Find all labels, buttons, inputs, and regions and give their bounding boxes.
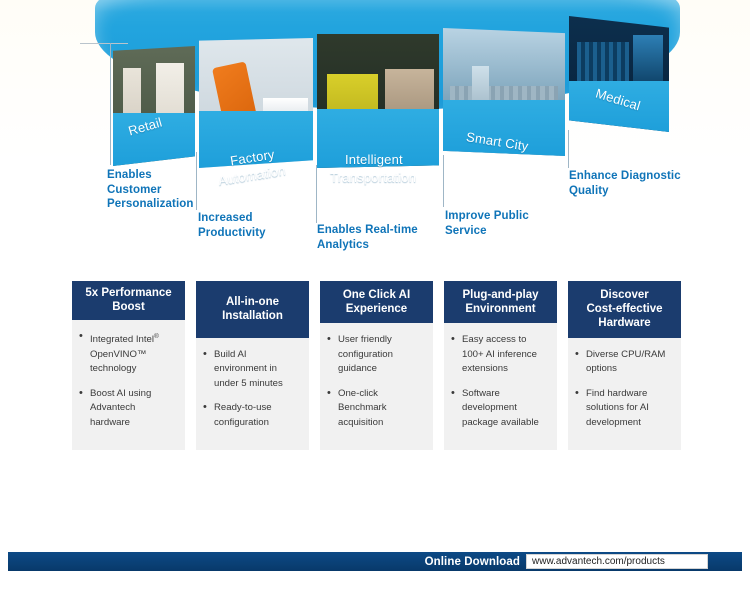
caption-medical-line2: Quality	[569, 184, 699, 199]
card-title-line2: Installation	[222, 309, 283, 323]
card-bullet-item: Boost AI using Advantech hardware	[79, 387, 177, 431]
card-header-installation: All-in-one Installation	[196, 281, 309, 338]
online-download-label: Online Download	[425, 556, 520, 568]
caption-factory: Increased Productivity	[198, 211, 298, 240]
industry-panel-retail[interactable]	[113, 46, 195, 166]
caption-smart-city-line1: Improve Public	[445, 209, 555, 224]
industry-panel-medical[interactable]	[569, 16, 669, 132]
download-url-text: www.advantech.com/products	[532, 556, 665, 567]
card-title-line1: 5x Performance	[85, 286, 171, 300]
caption-transportation-line1: Enables Real-time	[317, 223, 443, 238]
card-header-plug-and-play: Plug-and-play Environment	[444, 281, 557, 323]
card-title-line2: Boost	[85, 300, 171, 314]
card-body-plug-and-play: Easy access to 100+ AI inference extensi…	[444, 323, 557, 450]
caption-factory-line1: Increased	[198, 211, 298, 226]
card-header-cost-effective-hardware: Discover Cost-effective Hardware	[568, 281, 681, 338]
card-body-one-click-ai: User friendly configuration guidance One…	[320, 323, 433, 450]
card-bullet-list: User friendly configuration guidance One…	[327, 333, 425, 430]
card-title-line2: Environment	[462, 302, 538, 316]
card-body-performance: Integrated Intel® OpenVINO™ technology B…	[72, 320, 185, 450]
card-bullet-item: Find hardware solutions for AI developme…	[575, 387, 673, 431]
leader-line-smart-city	[443, 155, 444, 207]
caption-retail-line1: Enables	[107, 168, 203, 183]
card-header-performance: 5x Performance Boost	[72, 281, 185, 320]
leader-line-medical	[568, 130, 569, 168]
card-bullet-list: Diverse CPU/RAM options Find hardware so…	[575, 348, 673, 431]
feature-card-cost-effective-hardware[interactable]: Discover Cost-effective Hardware Diverse…	[568, 281, 681, 450]
card-title-line2: Cost-effective	[586, 302, 662, 316]
leader-line-transportation	[316, 165, 317, 223]
card-bullet-list: Build AI environment in under 5 minutes …	[203, 348, 301, 431]
card-bullet-item: User friendly configuration guidance	[327, 333, 425, 377]
caption-transportation-line2: Analytics	[317, 238, 443, 253]
bullet-text-post: OpenVINO™ technology	[90, 349, 147, 375]
feature-card-performance[interactable]: 5x Performance Boost Integrated Intel® O…	[72, 281, 185, 450]
bullet-text-pre: Integrated Intel	[90, 334, 154, 345]
card-header-one-click-ai: One Click AI Experience	[320, 281, 433, 323]
caption-transportation: Enables Real-time Analytics	[317, 223, 443, 252]
caption-medical: Enhance Diagnostic Quality	[569, 169, 699, 198]
feature-card-row: 5x Performance Boost Integrated Intel® O…	[72, 281, 682, 450]
card-title-line1: Discover	[586, 288, 662, 302]
caption-smart-city-line2: Service	[445, 224, 555, 239]
card-bullet-item: Software development package available	[451, 387, 549, 431]
feature-card-one-click-ai[interactable]: One Click AI Experience User friendly co…	[320, 281, 433, 450]
card-bullet-item: Ready-to-use configuration	[203, 401, 301, 430]
caption-retail: Enables Customer Personalization	[107, 168, 203, 212]
card-title-line1: One Click AI	[343, 288, 410, 302]
registered-mark: ®	[154, 333, 159, 340]
card-title-line1: Plug-and-play	[462, 288, 538, 302]
card-title-line1: All-in-one	[222, 295, 283, 309]
hero-banner: Retail Factory Automation Intelligent Tr…	[0, 0, 750, 270]
caption-retail-line2: Customer	[107, 183, 203, 198]
card-title-line2: Experience	[343, 302, 410, 316]
card-bullet-item: One-click Benchmark acquisition	[327, 387, 425, 431]
download-url-box[interactable]: www.advantech.com/products	[526, 554, 708, 569]
footer-bar: Online Download www.advantech.com/produc…	[8, 552, 742, 571]
caption-medical-line1: Enhance Diagnostic	[569, 169, 699, 184]
card-body-installation: Build AI environment in under 5 minutes …	[196, 338, 309, 451]
industry-label-transport-line1: Intelligent	[345, 152, 403, 167]
card-bullet-item: Build AI environment in under 5 minutes	[203, 348, 301, 392]
leader-line-retail	[110, 43, 111, 165]
caption-retail-line3: Personalization	[107, 197, 203, 212]
card-bullet-item: Diverse CPU/RAM options	[575, 348, 673, 377]
card-bullet-item: Easy access to 100+ AI inference extensi…	[451, 333, 549, 377]
feature-card-plug-and-play[interactable]: Plug-and-play Environment Easy access to…	[444, 281, 557, 450]
caption-smart-city: Improve Public Service	[445, 209, 555, 238]
card-bullet-list: Integrated Intel® OpenVINO™ technology B…	[79, 330, 177, 430]
card-bullet-list: Easy access to 100+ AI inference extensi…	[451, 333, 549, 430]
leader-line-horizontal	[80, 43, 128, 44]
industry-panel-transportation[interactable]	[317, 34, 439, 168]
card-title-line3: Hardware	[586, 316, 662, 330]
caption-factory-line2: Productivity	[198, 226, 298, 241]
feature-card-installation[interactable]: All-in-one Installation Build AI environ…	[196, 281, 309, 450]
card-bullet-item: Integrated Intel® OpenVINO™ technology	[79, 330, 177, 377]
card-body-cost-effective-hardware: Diverse CPU/RAM options Find hardware so…	[568, 338, 681, 451]
industry-label-transport-line2: Transportation	[330, 170, 416, 185]
